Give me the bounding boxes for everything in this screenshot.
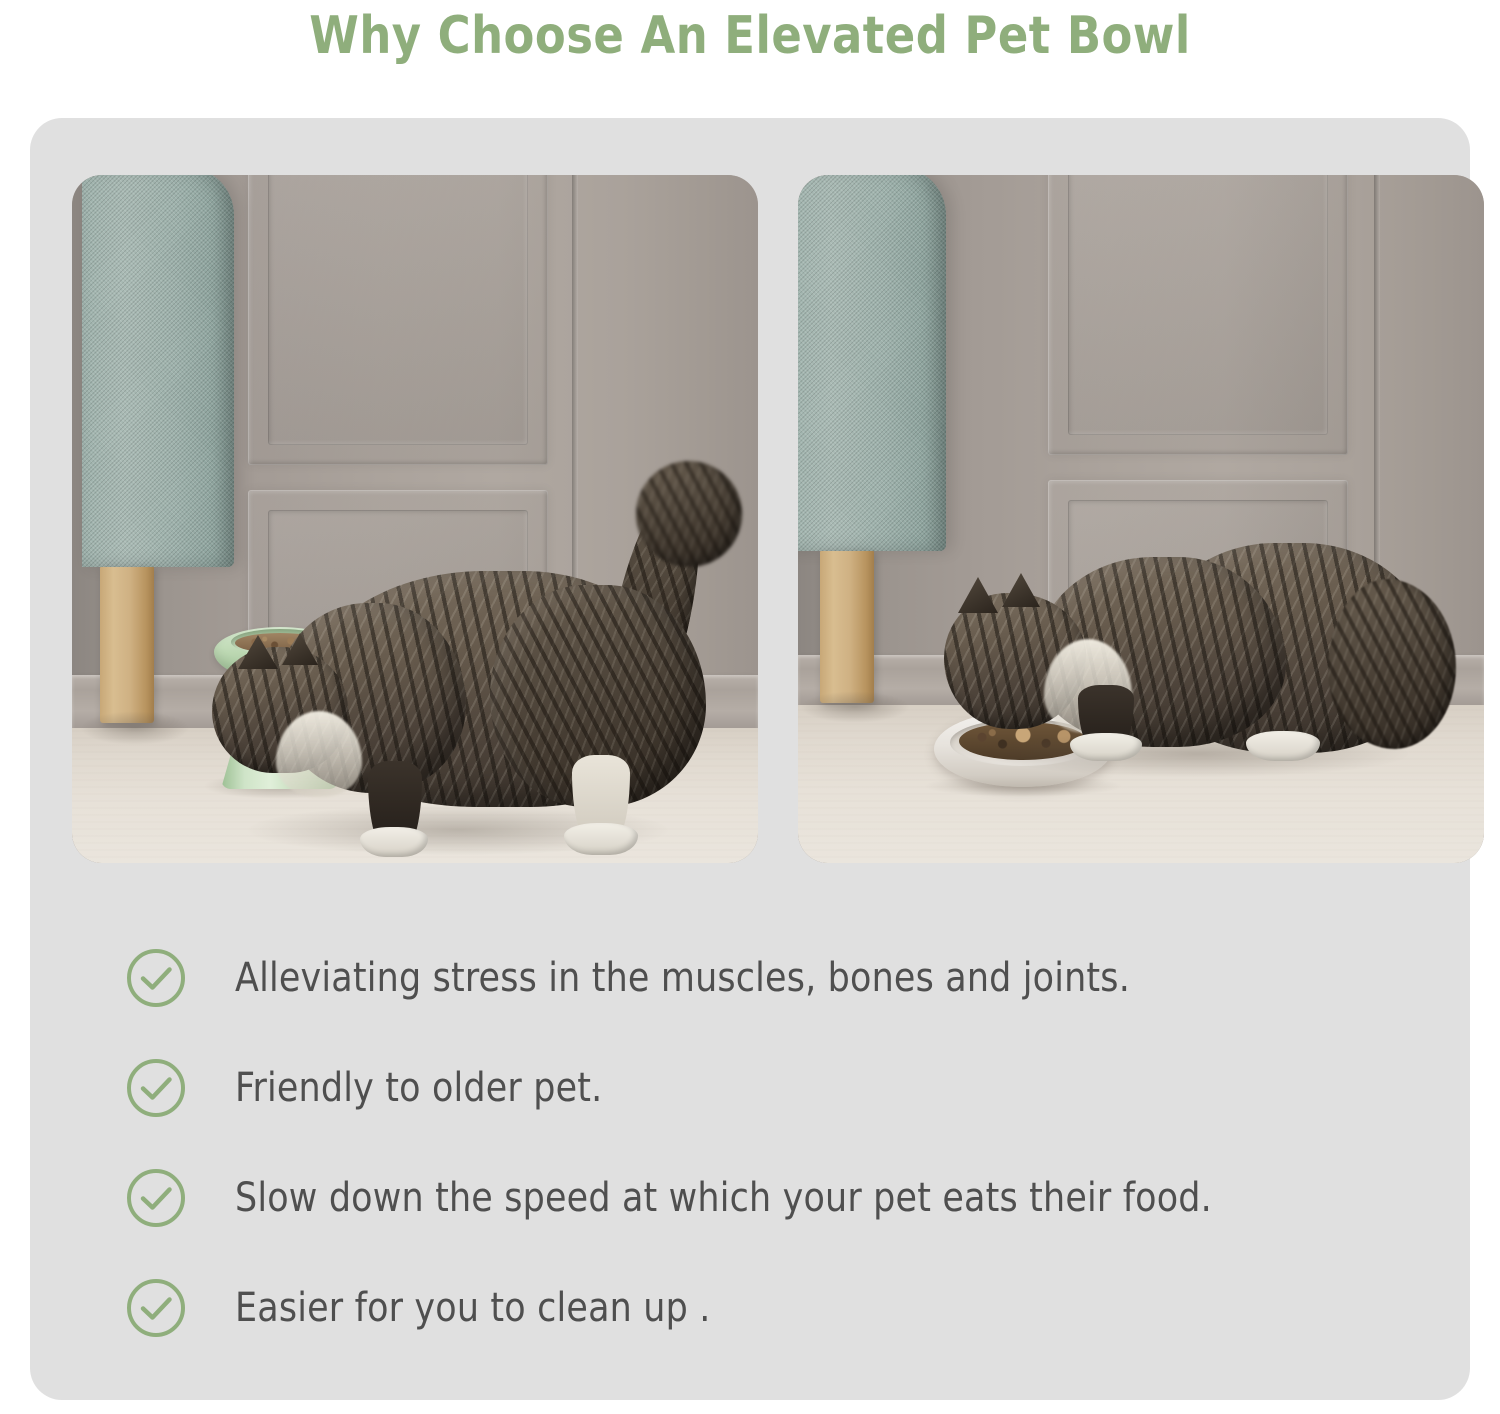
cat-standing (190, 475, 750, 863)
cat-hind-paw (1246, 731, 1320, 761)
wooden-furniture-leg (100, 567, 154, 723)
check-circle-icon (125, 1057, 187, 1119)
cat-front-paw (1070, 733, 1142, 761)
list-item: Easier for you to clean up . (125, 1253, 1455, 1363)
wooden-furniture-leg (820, 551, 874, 703)
benefit-label: Slow down the speed at which your pet ea… (235, 1175, 1212, 1221)
furniture-leg-shadow (800, 691, 910, 723)
cat-tail (1328, 579, 1456, 749)
list-item: Friendly to older pet. (125, 1033, 1455, 1143)
door-panel-inner-right (1068, 175, 1328, 435)
photo-floor-bowl (798, 175, 1484, 863)
check-circle-icon (125, 1167, 187, 1229)
benefit-label: Friendly to older pet. (235, 1065, 602, 1111)
list-item: Slow down the speed at which your pet ea… (125, 1143, 1455, 1253)
check-circle-icon (125, 1277, 187, 1339)
cat-crouching (928, 535, 1448, 795)
upholstered-sofa-leg (798, 175, 946, 551)
infographic-page: Why Choose An Elevated Pet Bowl (0, 0, 1500, 1414)
page-title: Why Choose An Elevated Pet Bowl (30, 0, 1470, 72)
furniture-leg-shadow (80, 711, 190, 745)
cat-ear-back (1002, 573, 1040, 607)
cat-tail-tip (636, 461, 742, 567)
list-item: Alleviating stress in the muscles, bones… (125, 923, 1455, 1033)
comparison-photos (45, 175, 1455, 863)
benefits-list: Alleviating stress in the muscles, bones… (125, 923, 1455, 1363)
cat-front-paw (360, 827, 428, 857)
cat-hind-paw (564, 823, 638, 855)
benefit-label: Alleviating stress in the muscles, bones… (235, 955, 1130, 1001)
photo-elevated-bowl (72, 175, 758, 863)
content-card: Alleviating stress in the muscles, bones… (30, 118, 1470, 1400)
check-circle-icon (125, 947, 187, 1009)
door-panel-inner-left (268, 175, 528, 445)
benefit-label: Easier for you to clean up . (235, 1285, 710, 1331)
